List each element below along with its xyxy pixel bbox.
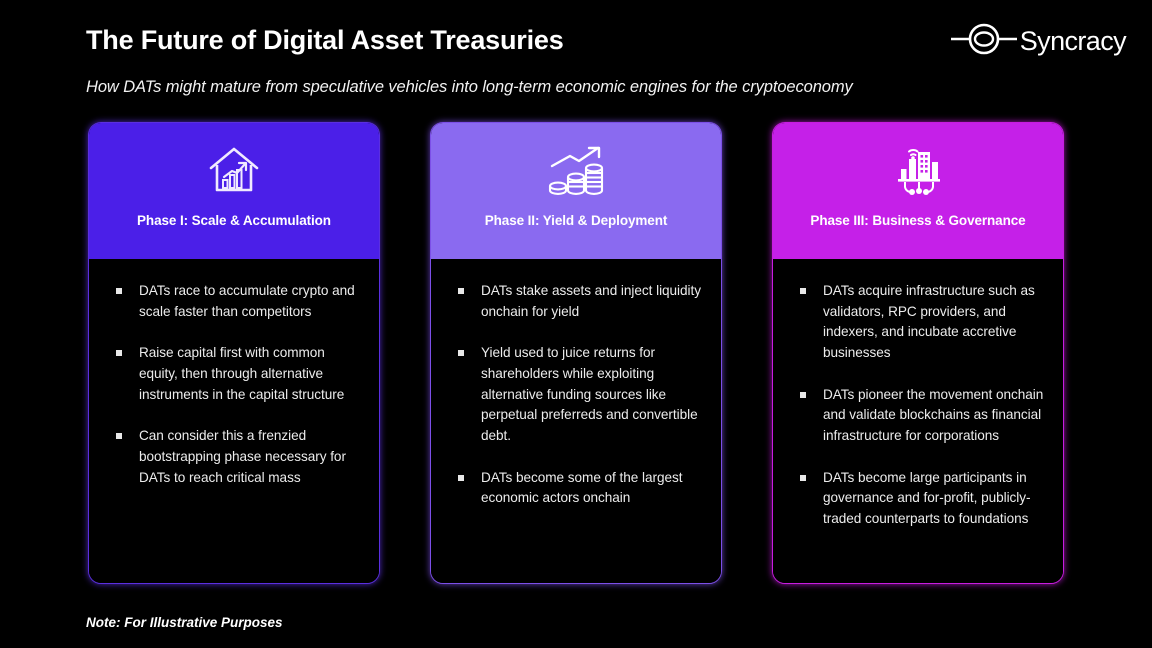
- page-title: The Future of Digital Asset Treasuries: [86, 25, 564, 56]
- list-item: DATs become some of the largest economic…: [453, 468, 705, 509]
- list-item: Can consider this a frenzied bootstrappi…: [111, 426, 363, 488]
- footer-note: Note: For Illustrative Purposes: [86, 615, 283, 630]
- brand-logo: Syncracy: [949, 22, 1126, 61]
- list-item: Raise capital first with common equity, …: [111, 343, 363, 405]
- slide-root: The Future of Digital Asset Treasuries H…: [0, 0, 1152, 648]
- list-item: DATs become large participants in govern…: [795, 468, 1047, 530]
- phase-card-3-bullet-list: DATs acquire infrastructure such as vali…: [795, 281, 1047, 530]
- phase-card-2: Phase II: Yield & Deployment DATs stake …: [430, 122, 722, 584]
- phase-card-1-header: Phase I: Scale & Accumulation: [89, 123, 379, 259]
- phase-card-2-title: Phase II: Yield & Deployment: [485, 213, 668, 228]
- phase-card-3-title: Phase III: Business & Governance: [810, 213, 1025, 228]
- phase-cards-container: Phase I: Scale & Accumulation DATs race …: [88, 122, 1064, 584]
- coin-stacks-growth-arrow-icon: [546, 143, 606, 199]
- page-subtitle: How DATs might mature from speculative v…: [86, 78, 853, 97]
- list-item: DATs stake assets and inject liquidity o…: [453, 281, 705, 322]
- city-buildings-network-nodes-icon: [889, 143, 947, 199]
- phase-card-2-bullet-list: DATs stake assets and inject liquidity o…: [453, 281, 705, 509]
- phase-card-1-body: DATs race to accumulate crypto and scale…: [89, 259, 379, 583]
- list-item: Yield used to juice returns for sharehol…: [453, 343, 705, 446]
- phase-card-1: Phase I: Scale & Accumulation DATs race …: [88, 122, 380, 584]
- brand-logo-text: Syncracy: [1020, 26, 1126, 57]
- list-item: DATs acquire infrastructure such as vali…: [795, 281, 1047, 364]
- house-bar-chart-growth-icon: [206, 143, 262, 199]
- syncracy-circle-logo-icon: [949, 22, 1019, 61]
- phase-card-1-title: Phase I: Scale & Accumulation: [137, 213, 331, 228]
- phase-card-2-body: DATs stake assets and inject liquidity o…: [431, 259, 721, 583]
- phase-card-2-header: Phase II: Yield & Deployment: [431, 123, 721, 259]
- list-item: DATs race to accumulate crypto and scale…: [111, 281, 363, 322]
- list-item: DATs pioneer the movement onchain and va…: [795, 385, 1047, 447]
- phase-card-3-header: Phase III: Business & Governance: [773, 123, 1063, 259]
- phase-card-3-body: DATs acquire infrastructure such as vali…: [773, 259, 1063, 583]
- phase-card-1-bullet-list: DATs race to accumulate crypto and scale…: [111, 281, 363, 488]
- phase-card-3: Phase III: Business & Governance DATs ac…: [772, 122, 1064, 584]
